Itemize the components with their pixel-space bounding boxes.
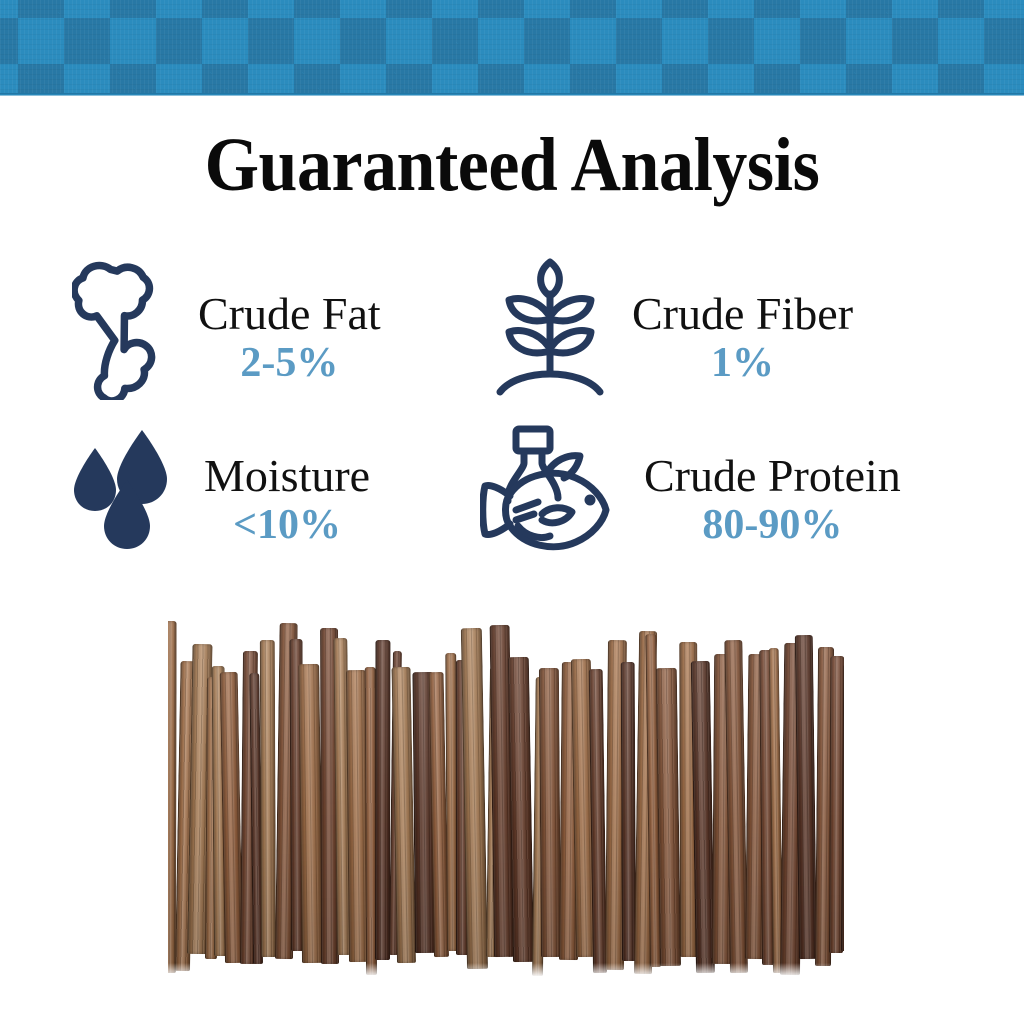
analysis-text-crude-protein: Crude Protein 80-90%: [644, 422, 901, 549]
analysis-value-crude-fat: 2-5%: [240, 339, 338, 387]
bone-icon: [72, 254, 176, 405]
water-droplets-icon: [66, 422, 178, 557]
analysis-value-moisture: <10%: [233, 501, 341, 549]
bully-stick: [461, 628, 488, 970]
bully-sticks-product-photo: [168, 612, 844, 977]
analysis-label-moisture: Moisture: [204, 452, 370, 501]
wheat-sprout-icon: [492, 254, 608, 405]
header-banner: [0, 0, 1024, 96]
bully-stick: [656, 668, 681, 966]
plaid-pattern: [0, 0, 1024, 96]
analysis-item-crude-fiber: Crude Fiber 1%: [492, 254, 853, 405]
analysis-item-moisture: Moisture <10%: [66, 422, 370, 557]
analysis-text-moisture: Moisture <10%: [204, 422, 370, 549]
analysis-text-crude-fat: Crude Fat 2-5%: [198, 254, 381, 387]
analysis-item-crude-protein: Crude Protein 80-90%: [480, 422, 901, 559]
analysis-text-crude-fiber: Crude Fiber 1%: [632, 254, 853, 387]
fish-oil-icon: [480, 422, 626, 559]
header-divider-rule: [0, 93, 1024, 96]
bully-stick: [508, 656, 534, 961]
analysis-label-crude-protein: Crude Protein: [644, 452, 901, 501]
analysis-value-crude-fiber: 1%: [711, 339, 774, 387]
analysis-item-crude-fat: Crude Fat 2-5%: [72, 254, 381, 405]
bully-stick: [260, 640, 277, 957]
analysis-label-crude-fiber: Crude Fiber: [632, 290, 853, 339]
guaranteed-analysis-grid: Crude Fat 2-5%: [0, 244, 1024, 584]
analysis-label-crude-fat: Crude Fat: [198, 290, 381, 339]
bully-stick: [375, 640, 391, 960]
page-title: Guaranteed Analysis: [41, 127, 983, 203]
plaid-weave-texture: [0, 0, 1024, 96]
bully-stick: [539, 667, 561, 956]
analysis-value-crude-protein: 80-90%: [702, 501, 842, 549]
bully-stick: [795, 635, 817, 960]
